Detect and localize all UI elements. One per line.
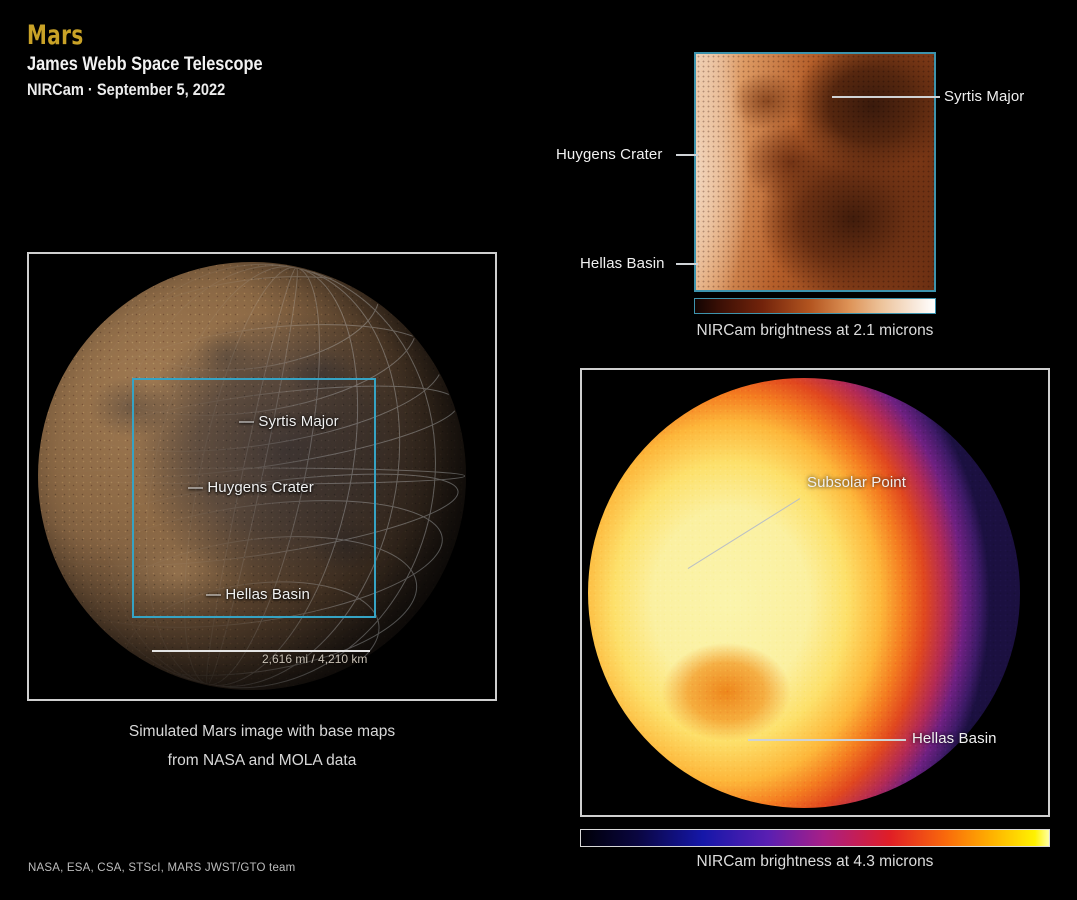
leader-line-syrtis-major	[832, 96, 940, 98]
title-block: Mars James Webb Space Telescope NIRCam ·…	[27, 22, 301, 102]
nircam-21-heatmap	[696, 54, 934, 290]
simulated-mars-caption: Simulated Mars image with base maps from…	[27, 718, 497, 775]
leader-line-huygens-crater	[676, 154, 698, 156]
nircam-21-panel	[694, 52, 936, 292]
colorbar-43-micron	[580, 829, 1050, 847]
telescope-subtitle: James Webb Space Telescope	[27, 53, 263, 78]
infographic-canvas: Mars James Webb Space Telescope NIRCam ·…	[0, 0, 1077, 900]
page-title: Mars	[27, 22, 252, 50]
label-hellas-basin-21: Hellas Basin	[580, 255, 665, 272]
credit-line: NASA, ESA, CSA, STScI, MARS JWST/GTO tea…	[28, 862, 295, 874]
instrument-date-line: NIRCam · September 5, 2022	[27, 79, 263, 102]
label-syrtis-major-21: Syrtis Major	[944, 88, 1024, 105]
scale-bar-label: 2,616 mi / 4,210 km	[262, 652, 367, 666]
leader-line-hellas-basin-43	[748, 739, 906, 741]
caption-line-2: from NASA and MOLA data	[27, 747, 497, 776]
globe-label-huygens-crater: — Huygens Crater	[188, 479, 314, 496]
colorbar-43-caption: NIRCam brightness at 4.3 microns	[580, 853, 1050, 871]
colorbar-21-micron	[694, 298, 936, 314]
label-hellas-basin-43: Hellas Basin	[912, 730, 997, 747]
label-huygens-crater-21: Huygens Crater	[556, 146, 662, 163]
nircam-43-heatmap	[582, 370, 1048, 815]
colorbar-21-caption: NIRCam brightness at 2.1 microns	[630, 322, 1000, 340]
caption-line-1: Simulated Mars image with base maps	[27, 718, 497, 747]
globe-label-hellas-basin: — Hellas Basin	[206, 586, 310, 603]
label-subsolar-point: Subsolar Point	[807, 474, 906, 491]
nircam-43-panel	[580, 368, 1050, 817]
heatmap-noise-texture	[696, 54, 934, 290]
globe-label-syrtis-major: — Syrtis Major	[239, 413, 339, 430]
leader-line-hellas-basin-21	[676, 263, 698, 265]
